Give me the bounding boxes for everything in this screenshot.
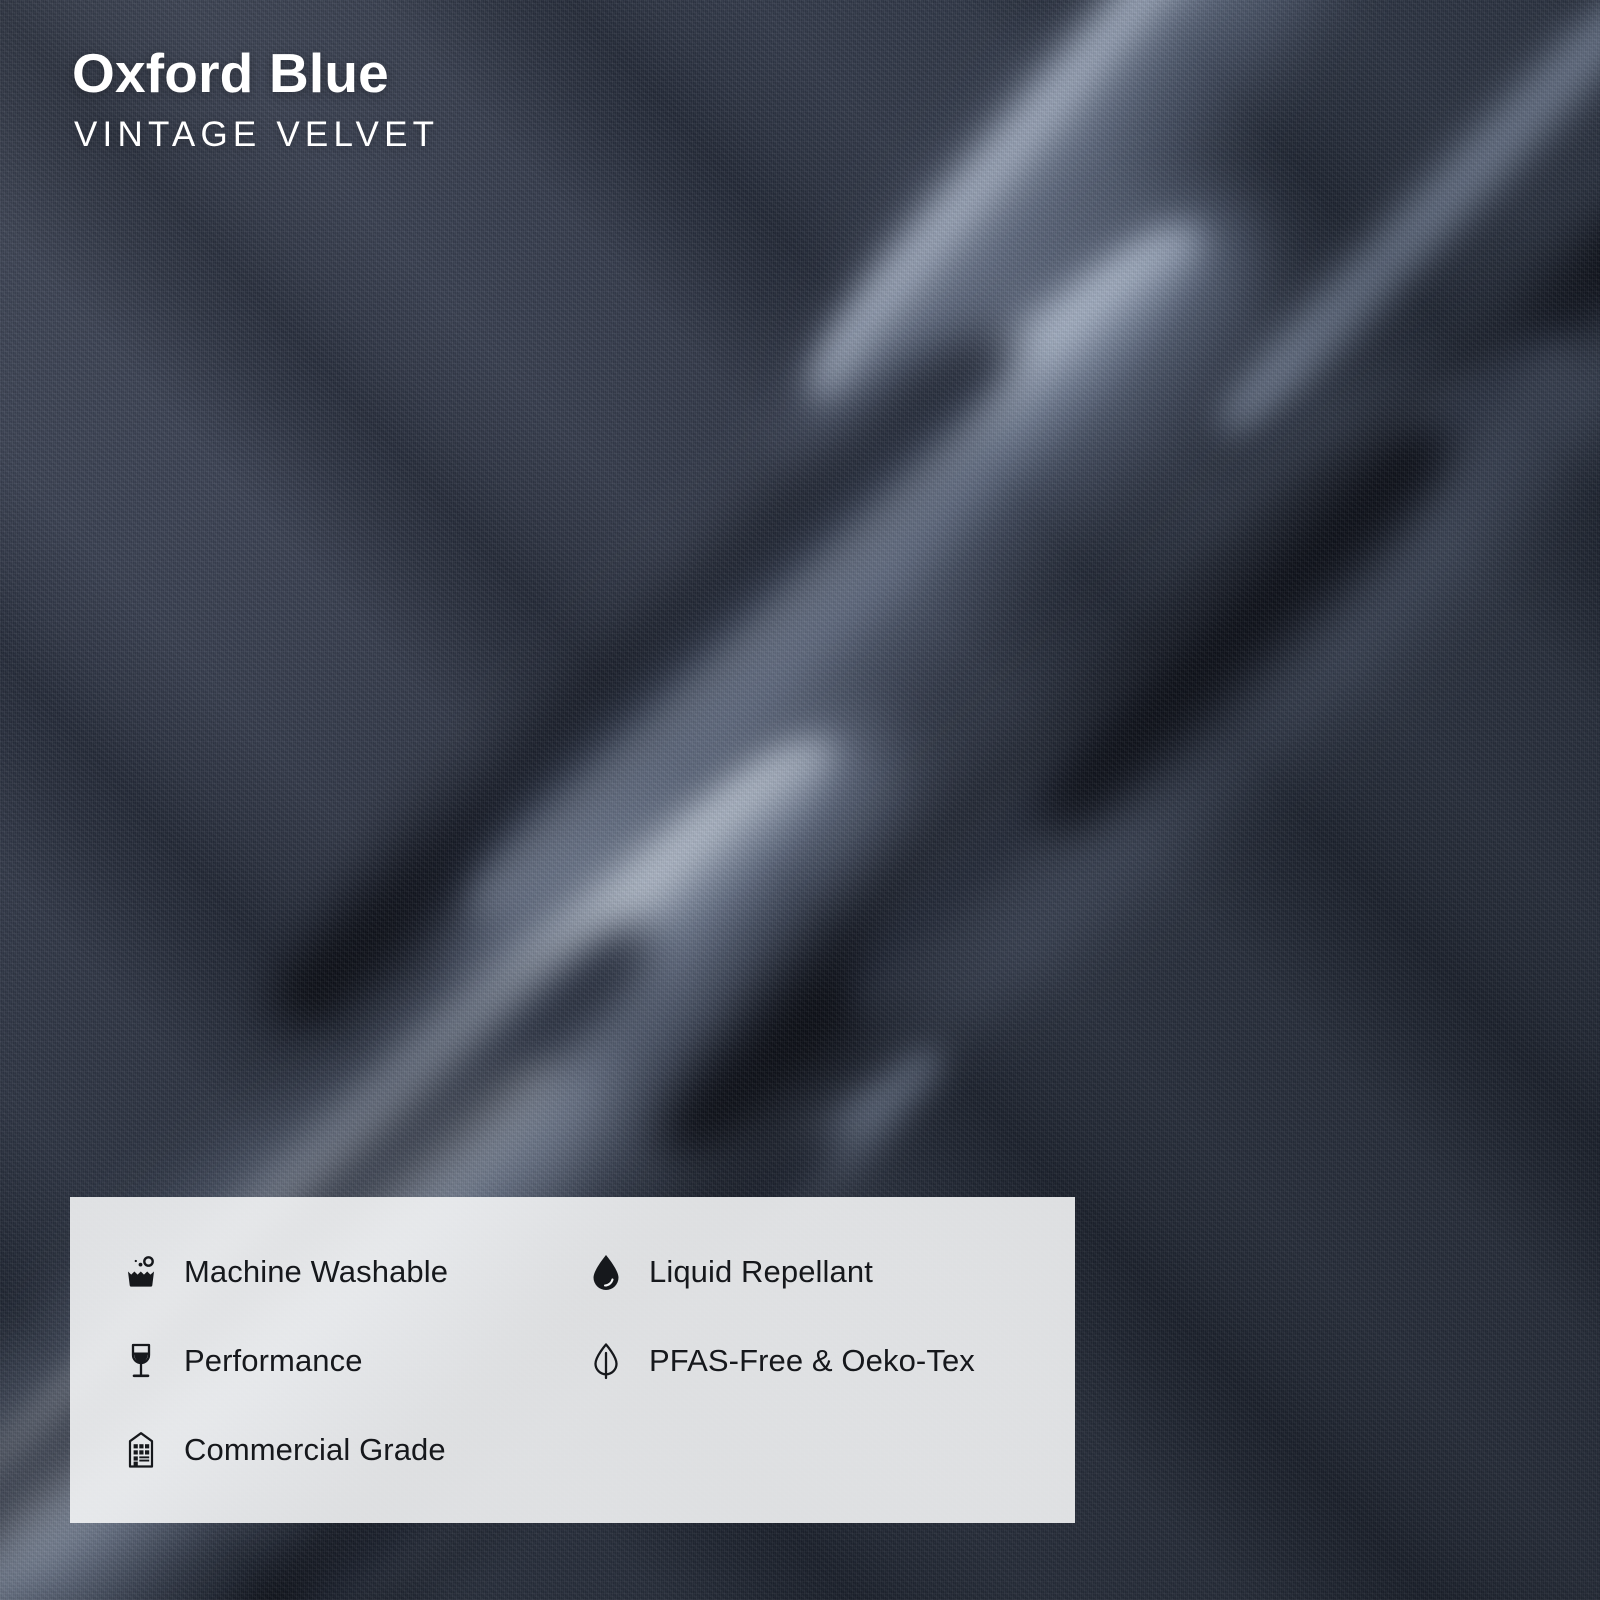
wine-glass-icon <box>120 1340 162 1382</box>
feature-item-liquid-repellant: Liquid Repellant <box>533 1227 1075 1316</box>
feature-label: PFAS-Free & Oeko-Tex <box>649 1343 975 1379</box>
water-droplet-icon <box>585 1251 627 1293</box>
leaf-icon <box>585 1340 627 1382</box>
feature-item-commercial-grade: Commercial Grade <box>70 1405 533 1494</box>
feature-grid: Machine Washable Liquid Repellant <box>70 1227 1075 1494</box>
feature-label: Machine Washable <box>184 1254 448 1290</box>
product-title: Oxford Blue <box>72 44 439 103</box>
product-swatch-image: Oxford Blue VINTAGE VELVET Machine Washa… <box>0 0 1600 1600</box>
feature-item-performance: Performance <box>70 1316 533 1405</box>
feature-label: Performance <box>184 1343 363 1379</box>
building-icon <box>120 1429 162 1471</box>
washing-tub-icon <box>120 1251 162 1293</box>
feature-label: Commercial Grade <box>184 1432 446 1468</box>
title-block: Oxford Blue VINTAGE VELVET <box>72 44 439 154</box>
feature-item-pfas-free: PFAS-Free & Oeko-Tex <box>533 1316 1075 1405</box>
feature-label: Liquid Repellant <box>649 1254 873 1290</box>
feature-item-machine-washable: Machine Washable <box>70 1227 533 1316</box>
feature-panel: Machine Washable Liquid Repellant <box>70 1197 1075 1523</box>
product-subtitle: VINTAGE VELVET <box>74 117 439 154</box>
